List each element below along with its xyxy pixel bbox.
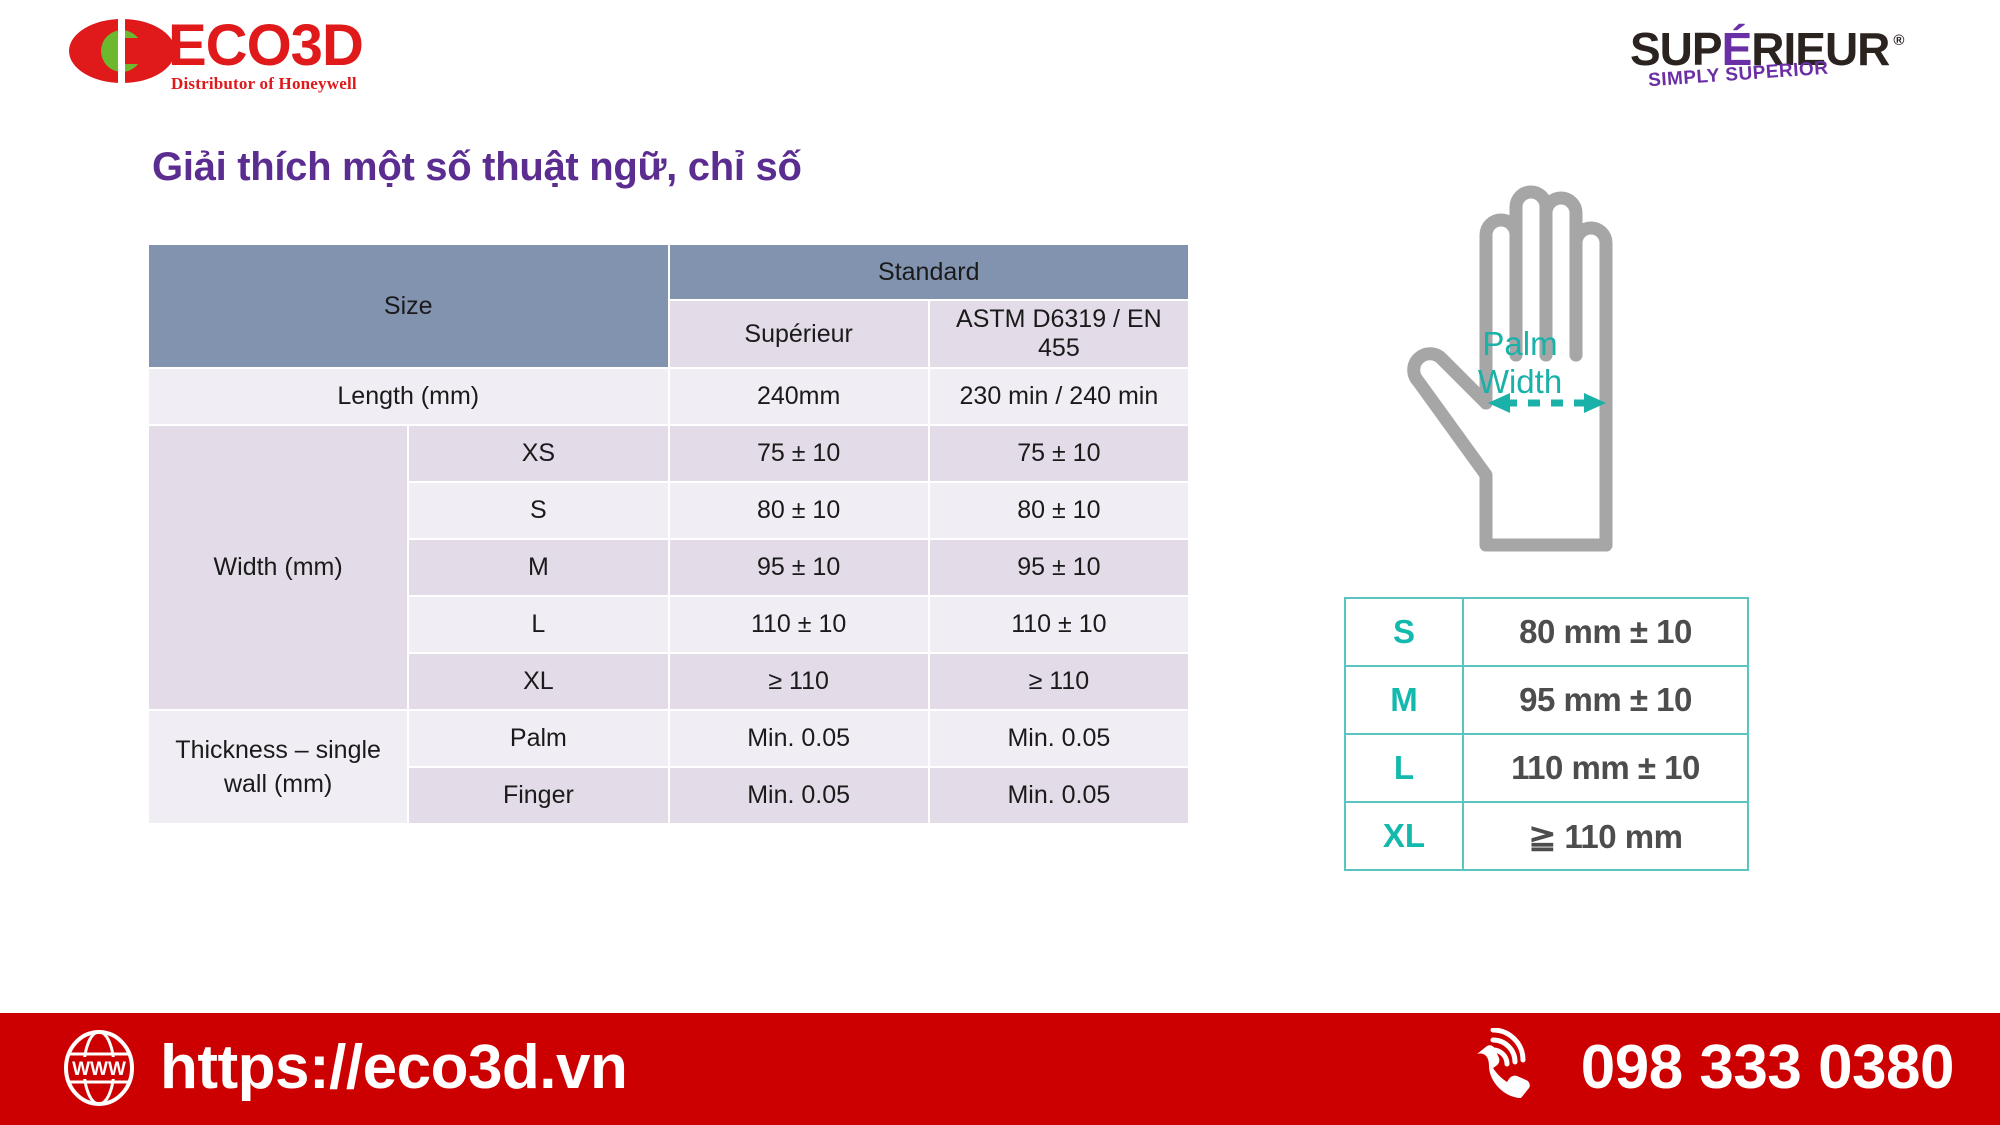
cell-superieur: 110 ± 10 <box>670 597 928 652</box>
cell-size-m: M <box>409 540 667 595</box>
eco3d-tagline: Distributor of Honeywell <box>171 74 363 94</box>
table-header-row: Size Standard <box>149 245 1188 299</box>
cell-astm: 95 ± 10 <box>930 540 1188 595</box>
header-astm: ASTM D6319 / EN 455 <box>930 301 1188 367</box>
phone-call-icon <box>1471 1028 1559 1108</box>
size-value-m: 95 mm ± 10 <box>1463 666 1748 734</box>
eco3d-logo-mark <box>68 18 176 84</box>
table-row: M 95 mm ± 10 <box>1345 666 1748 734</box>
registered-mark: ® <box>1893 32 1903 49</box>
cell-size-l: L <box>409 597 667 652</box>
cell-superieur: 80 ± 10 <box>670 483 928 538</box>
size-key-s: S <box>1345 598 1463 666</box>
cell-astm: 230 min / 240 min <box>930 369 1188 424</box>
cell-astm: 75 ± 10 <box>930 426 1188 481</box>
size-key-l: L <box>1345 734 1463 802</box>
svg-text:WWW: WWW <box>72 1059 126 1080</box>
cell-superieur: 75 ± 10 <box>670 426 928 481</box>
eco3d-name: ECO3D <box>168 20 363 72</box>
size-key-xl: XL <box>1345 802 1463 870</box>
cell-astm: Min. 0.05 <box>930 768 1188 823</box>
superieur-logo: SUPÉRIEUR® SIMPLY SUPERIOR <box>1630 8 1880 98</box>
table-row: Thickness – single wall (mm) Palm Min. 0… <box>149 711 1188 766</box>
palm-label-line2: Width <box>1395 363 1645 401</box>
size-value-l: 110 mm ± 10 <box>1463 734 1748 802</box>
row-label-length: Length (mm) <box>149 369 668 424</box>
cell-size-xs: XS <box>409 426 667 481</box>
www-globe-icon: WWW <box>60 1029 138 1107</box>
eco3d-logo: ECO3D Distributor of Honeywell <box>68 14 408 90</box>
cell-part-palm: Palm <box>409 711 667 766</box>
cell-part-finger: Finger <box>409 768 667 823</box>
header-size: Size <box>149 245 668 367</box>
footer-bar: WWW https://eco3d.vn 098 333 0380 <box>0 1013 2000 1125</box>
size-key-m: M <box>1345 666 1463 734</box>
cell-size-xl: XL <box>409 654 667 709</box>
table-row: S 80 mm ± 10 <box>1345 598 1748 666</box>
slide-root: ECO3D Distributor of Honeywell SUPÉRIEUR… <box>0 0 2000 1125</box>
palm-width-label: Palm Width <box>1395 325 1645 401</box>
table-row: L 110 mm ± 10 <box>1345 734 1748 802</box>
table-row: Length (mm) 240mm 230 min / 240 min <box>149 369 1188 424</box>
footer-phone[interactable]: 098 333 0380 <box>1581 1027 1954 1109</box>
footer-phone-group[interactable]: 098 333 0380 <box>1471 1027 1954 1109</box>
cell-astm: Min. 0.05 <box>930 711 1188 766</box>
cell-astm: ≥ 110 <box>930 654 1188 709</box>
table-row: Width (mm) XS 75 ± 10 75 ± 10 <box>149 426 1188 481</box>
cell-superieur: ≥ 110 <box>670 654 928 709</box>
cell-astm: 80 ± 10 <box>930 483 1188 538</box>
cell-astm: 110 ± 10 <box>930 597 1188 652</box>
row-label-width: Width (mm) <box>149 426 407 709</box>
cell-superieur: 95 ± 10 <box>670 540 928 595</box>
table-row: XL ≧ 110 mm <box>1345 802 1748 870</box>
size-reference-table: S 80 mm ± 10 M 95 mm ± 10 L 110 mm ± 10 … <box>1344 597 1749 871</box>
specification-table: Size Standard Supérieur ASTM D6319 / EN … <box>147 243 1190 825</box>
row-label-thickness: Thickness – single wall (mm) <box>149 711 407 823</box>
header-standard: Standard <box>670 245 1189 299</box>
footer-website-group[interactable]: WWW https://eco3d.vn <box>60 1027 627 1109</box>
cell-size-s: S <box>409 483 667 538</box>
cell-superieur: 240mm <box>670 369 928 424</box>
footer-website[interactable]: https://eco3d.vn <box>160 1027 627 1109</box>
size-value-s: 80 mm ± 10 <box>1463 598 1748 666</box>
cell-superieur: Min. 0.05 <box>670 768 928 823</box>
page-title: Giải thích một số thuật ngữ, chỉ số <box>152 145 802 190</box>
header-superieur: Supérieur <box>670 301 928 367</box>
eco3d-wordmark: ECO3D Distributor of Honeywell <box>168 20 363 94</box>
cell-superieur: Min. 0.05 <box>670 711 928 766</box>
size-value-xl: ≧ 110 mm <box>1463 802 1748 870</box>
palm-label-line1: Palm <box>1395 325 1645 363</box>
